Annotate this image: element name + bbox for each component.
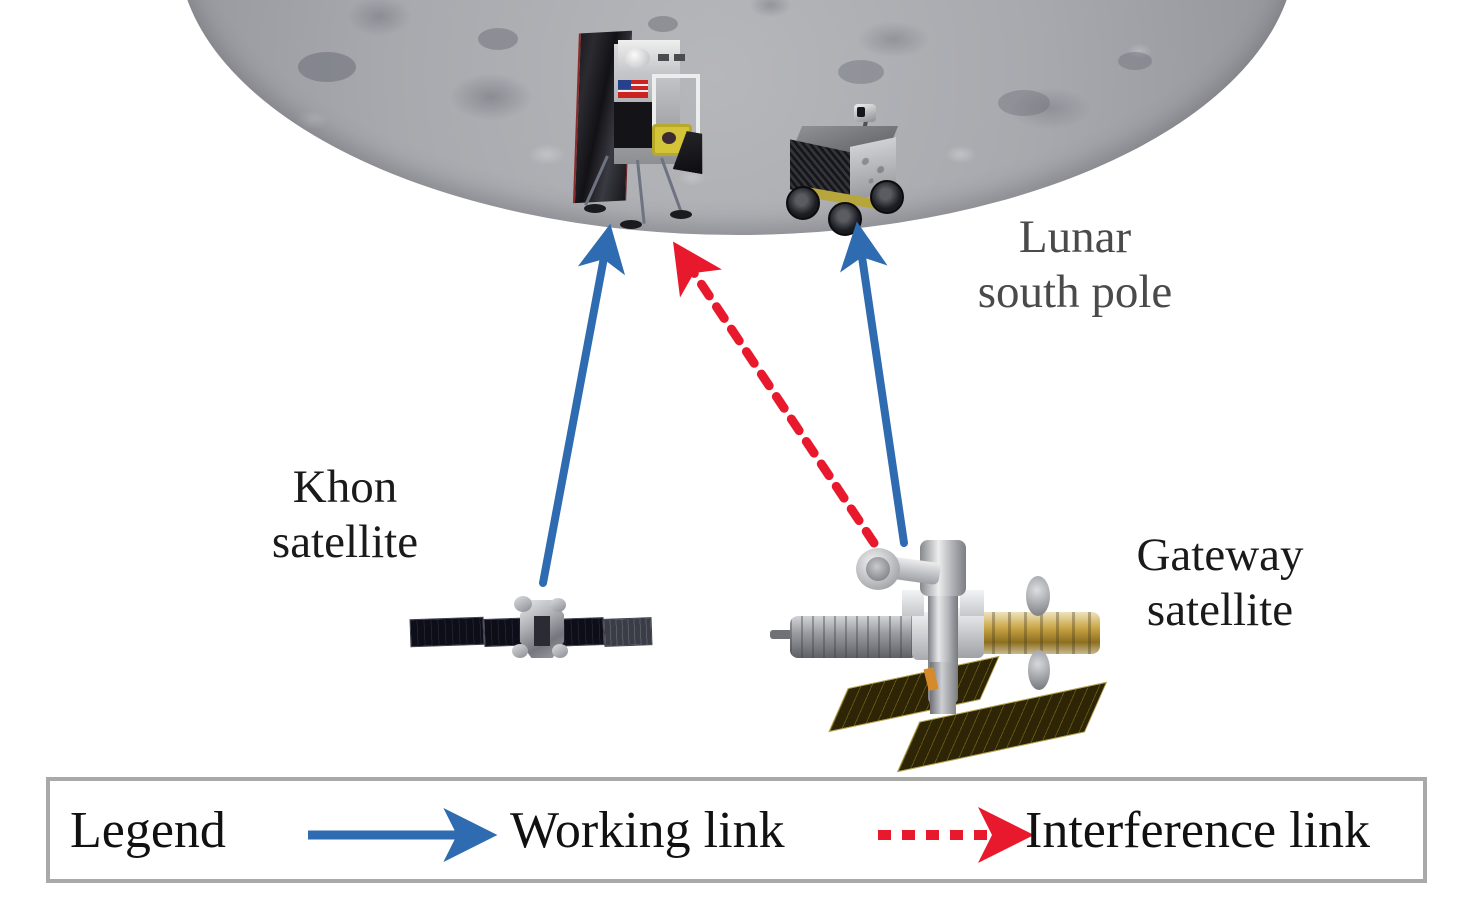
- gateway-airlock-node: [856, 548, 900, 590]
- crater-icon: [478, 28, 518, 50]
- moon-surface: [178, 0, 1296, 235]
- link-gateway-to-rover: [861, 250, 904, 543]
- label-lunar-line2: south pole: [930, 265, 1220, 320]
- rover-wheel: [786, 186, 820, 220]
- khon-thruster: [512, 644, 528, 658]
- legend-title: Legend: [70, 801, 226, 860]
- lander-instrument-bay: [614, 102, 654, 148]
- moon-region: [0, 0, 1476, 250]
- khon-solar-panel: [410, 617, 485, 648]
- lander-foot-pad: [584, 204, 606, 213]
- link-khon-to-lander: [543, 252, 605, 583]
- label-lunar-south-pole: Lunar south pole: [930, 210, 1220, 319]
- khon-thruster: [552, 644, 568, 658]
- lander-flag-icon: [618, 80, 648, 98]
- khon-thruster: [550, 598, 566, 612]
- khon-solar-panel: [604, 617, 653, 647]
- label-khon-line2: satellite: [205, 515, 485, 570]
- lander-vent: [674, 54, 685, 61]
- crater-icon: [838, 60, 884, 84]
- lander-foot-pad: [670, 210, 692, 219]
- lander-foot-pad: [620, 220, 642, 229]
- lander-leg: [636, 160, 646, 224]
- lander-antenna-dish-icon: [624, 48, 650, 68]
- legend-working-link-label: Working link: [510, 801, 785, 860]
- rover-wheel: [828, 202, 862, 236]
- label-khon-line1: Khon: [205, 460, 485, 515]
- gateway-satellite: [780, 532, 1110, 754]
- label-khon-satellite: Khon satellite: [205, 460, 485, 569]
- gateway-radiator-disc: [1028, 650, 1050, 690]
- crater-icon: [998, 90, 1050, 116]
- lunar-rover: [788, 108, 913, 228]
- gateway-radiator-disc: [1026, 576, 1050, 616]
- figure-canvas: Lunar south pole Khon satellite Gateway …: [0, 0, 1476, 912]
- gateway-radiator-panel: [902, 590, 924, 616]
- legend-box: Legend Working link Interference link: [46, 777, 1427, 883]
- khon-thruster: [514, 596, 532, 612]
- lander-vent: [658, 54, 669, 61]
- legend-interference-link-label: Interference link: [1025, 801, 1370, 860]
- label-gateway-line2: satellite: [1070, 583, 1370, 638]
- label-gateway-line1: Gateway: [1070, 528, 1370, 583]
- crater-icon: [298, 52, 356, 82]
- link-gateway-to-lander-interference: [690, 267, 874, 543]
- gateway-radiator-panel: [960, 590, 984, 616]
- crater-icon: [1118, 52, 1152, 70]
- gateway-habitation-module: [790, 616, 918, 658]
- khon-satellite: [408, 592, 653, 668]
- lunar-lander: [548, 28, 708, 233]
- label-gateway-satellite: Gateway satellite: [1070, 528, 1370, 637]
- rover-wheel: [870, 180, 904, 214]
- label-lunar-line1: Lunar: [930, 210, 1220, 265]
- rover-camera-head-icon: [854, 104, 876, 122]
